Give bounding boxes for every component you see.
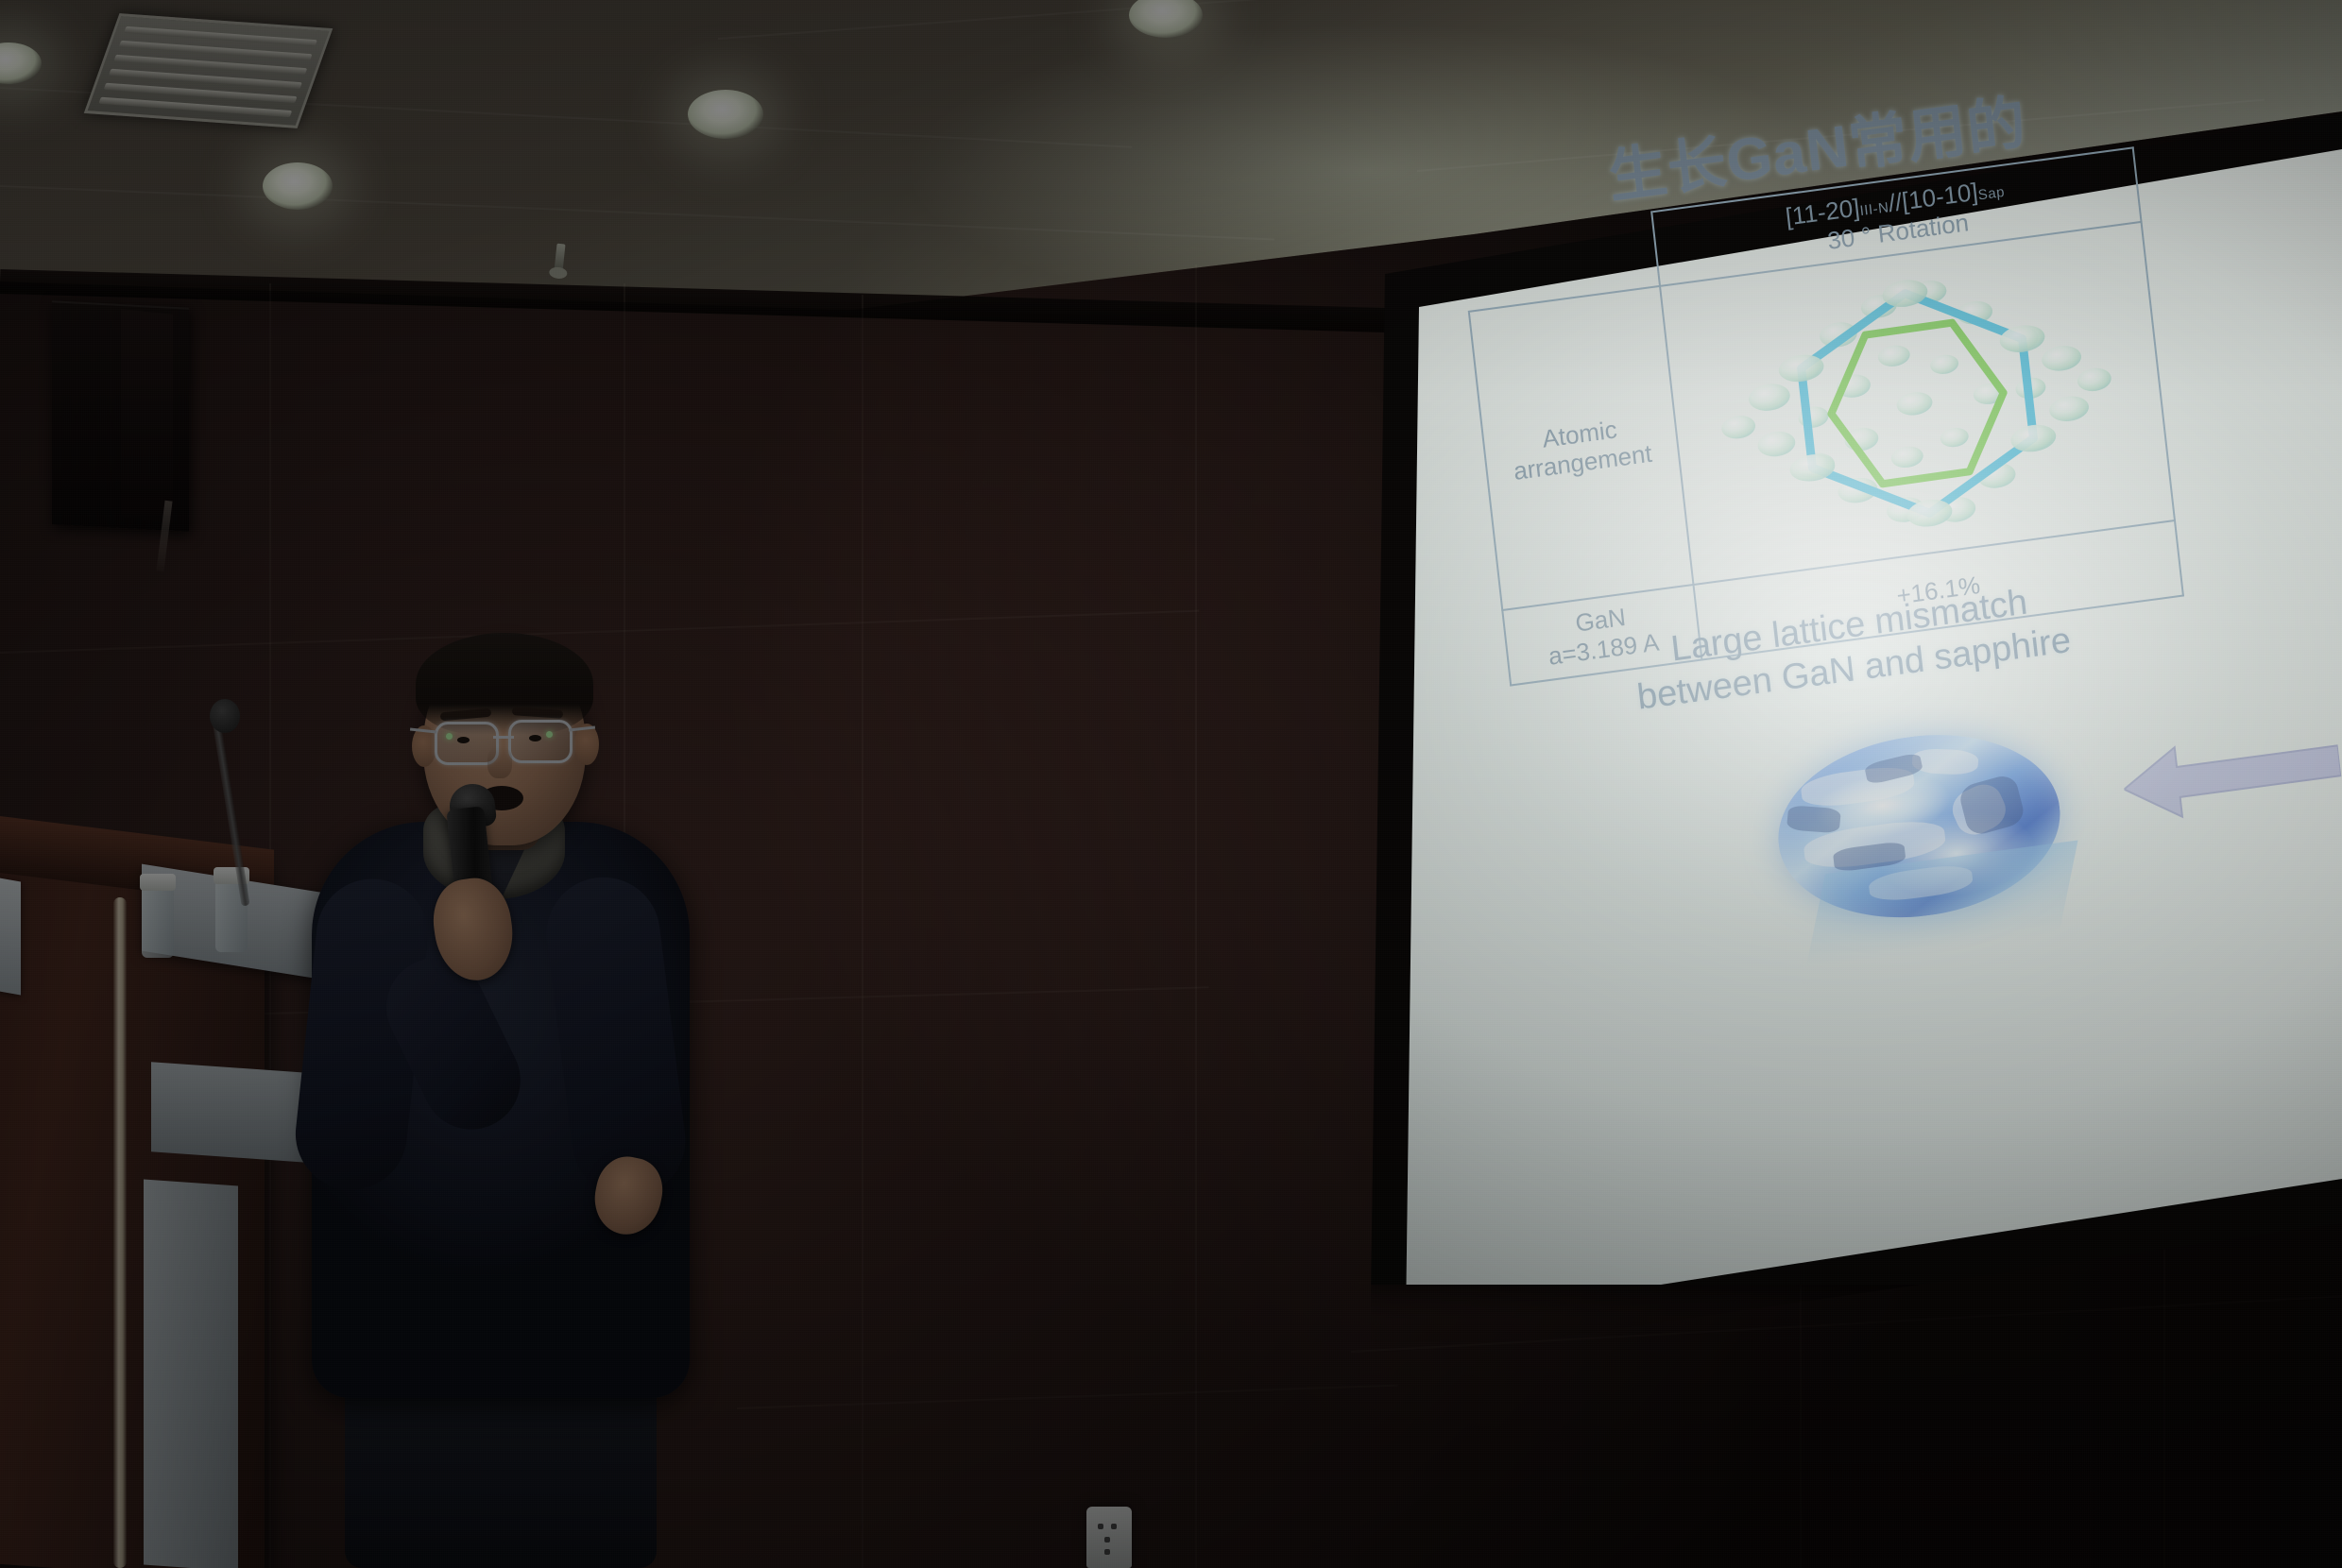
sprinkler-head-icon — [554, 244, 565, 273]
wall-tile-line — [862, 295, 863, 1568]
header-sub-iii-n: III-N — [1859, 199, 1889, 219]
presenter-eye — [529, 735, 541, 741]
lattice-svg — [1701, 241, 2134, 567]
lecture-hall-photo: 生长GaN常用的 [11-20]III-N//[10-10]Sap 30 ° R… — [0, 0, 2342, 1568]
lens-glint — [446, 733, 453, 740]
eyeglasses-lens — [508, 720, 573, 763]
lens-glint — [546, 731, 553, 738]
wall-speaker-cabinet-side — [121, 309, 173, 522]
header-sub-sap: Sap — [1977, 184, 2006, 204]
presenter — [312, 642, 756, 1568]
presenter-nose — [487, 746, 512, 778]
podium-side-panel — [0, 875, 21, 995]
power-cable — [113, 897, 127, 1568]
row-label-atomic-arrangement: Atomic arrangement — [1469, 286, 1694, 610]
gooseneck-mic-head-icon — [210, 699, 240, 733]
presenter-eye — [457, 737, 470, 743]
podium-column — [144, 1180, 238, 1568]
hvac-vent-icon — [84, 13, 333, 128]
ceiling-downlight — [688, 90, 763, 139]
sapphire-gem-image — [1767, 698, 2102, 974]
bottle-cap — [140, 874, 176, 891]
hexagonal-lattice-diagram — [1667, 231, 2167, 575]
slide-content: 生长GaN常用的 [11-20]III-N//[10-10]Sap 30 ° R… — [1384, 0, 2342, 1231]
wall-tile-line — [1195, 264, 1197, 1568]
eyeglasses-bridge — [493, 736, 514, 739]
left-pointing-arrow-icon — [2120, 720, 2342, 829]
water-bottle — [142, 884, 174, 958]
presentation-remote[interactable] — [1086, 1507, 1132, 1568]
podium-shelf-panel — [151, 1062, 307, 1163]
ceiling-downlight — [263, 162, 333, 210]
